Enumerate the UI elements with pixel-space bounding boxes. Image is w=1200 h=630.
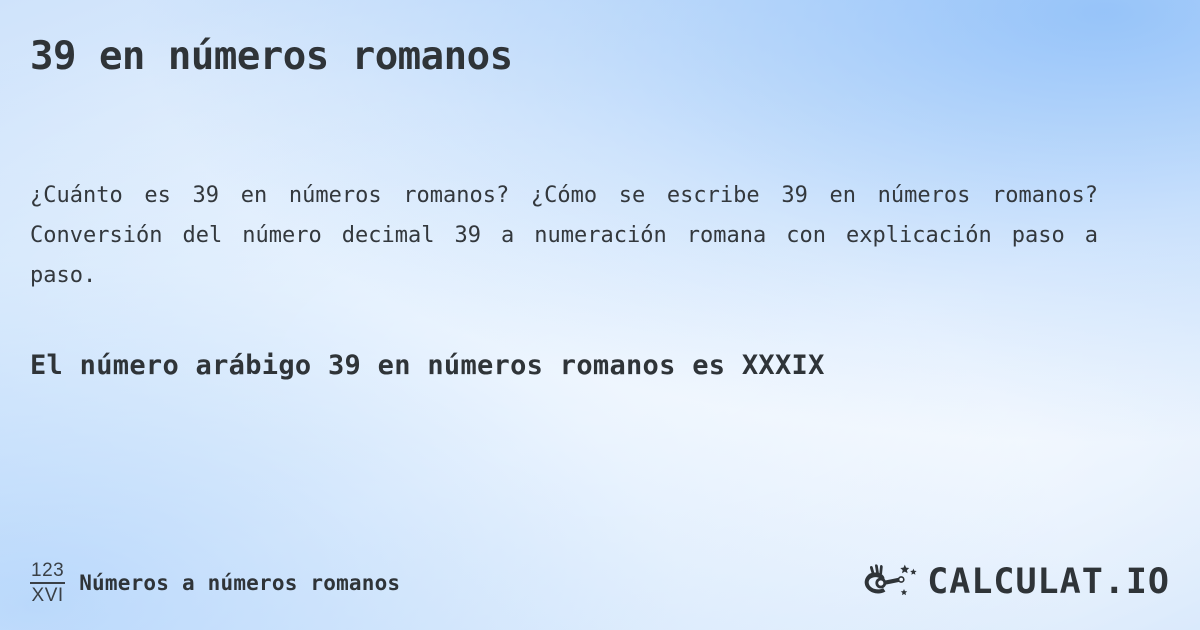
og-image-card: 39 en números romanos ¿Cuánto es 39 en n… bbox=[0, 0, 1200, 630]
logo-wordmark: CALCULAT.IO bbox=[927, 564, 1170, 600]
fraction-denominator: XVI bbox=[32, 584, 64, 606]
card-content: 39 en números romanos ¿Cuánto es 39 en n… bbox=[0, 0, 1200, 630]
footer-brand[interactable]: 123 XVI Números a números romanos bbox=[30, 560, 400, 606]
site-logo[interactable]: CALCULAT.IO bbox=[863, 562, 1170, 602]
conversion-result-text: El número arábigo 39 en números romanos … bbox=[30, 344, 1050, 387]
intro-paragraph: ¿Cuánto es 39 en números romanos? ¿Cómo … bbox=[30, 176, 1098, 296]
footer-section-label: Números a números romanos bbox=[79, 571, 400, 595]
fraction-123-xvi-icon: 123 XVI bbox=[30, 560, 65, 606]
page-title: 39 en números romanos bbox=[30, 33, 513, 81]
fraction-numerator: 123 bbox=[30, 560, 65, 584]
hand-magic-wand-icon bbox=[863, 562, 921, 602]
footer: 123 XVI Números a números romanos bbox=[0, 538, 1200, 630]
